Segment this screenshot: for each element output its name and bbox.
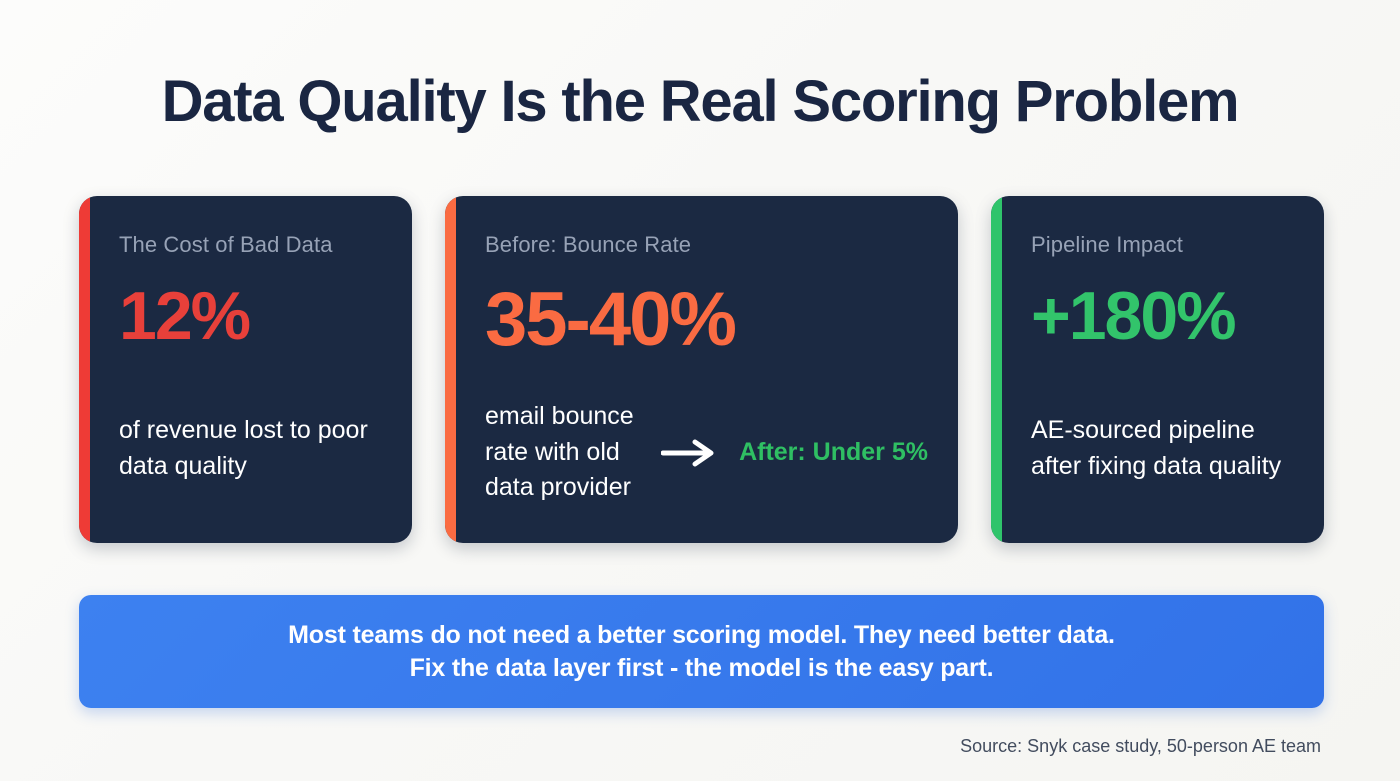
stat-cards-row: The Cost of Bad Data 12% of revenue lost… — [79, 196, 1324, 543]
card-description: AE-sourced pipeline after fixing data qu… — [1031, 413, 1294, 484]
stat-card-bounce-rate: Before: Bounce Rate 35-40% email bounce … — [445, 196, 958, 543]
card-body: of revenue lost to poor data quality — [119, 384, 382, 513]
card-label: Pipeline Impact — [1031, 232, 1294, 258]
card-stat-value: 35-40% — [485, 282, 928, 358]
page-title: Data Quality Is the Real Scoring Problem — [0, 68, 1400, 135]
stat-card-pipeline-impact: Pipeline Impact +180% AE-sourced pipelin… — [991, 196, 1324, 543]
source-note: Source: Snyk case study, 50-person AE te… — [960, 736, 1321, 757]
card-stat-value: 12% — [119, 282, 382, 350]
card-stat-value: +180% — [1031, 282, 1294, 350]
card-after-value: After: Under 5% — [739, 435, 928, 471]
card-description: email bounce rate with old data provider — [485, 399, 635, 506]
card-accent-bar — [79, 196, 90, 543]
key-takeaway-banner: Most teams do not need a better scoring … — [79, 595, 1324, 708]
card-accent-bar — [991, 196, 1002, 543]
card-description: of revenue lost to poor data quality — [119, 413, 382, 484]
card-body: email bounce rate with old data provider… — [485, 392, 928, 513]
card-accent-bar — [445, 196, 456, 543]
banner-line-1: Most teams do not need a better scoring … — [288, 621, 1115, 650]
stat-card-cost-of-bad-data: The Cost of Bad Data 12% of revenue lost… — [79, 196, 412, 543]
banner-line-2: Fix the data layer first - the model is … — [410, 654, 994, 683]
arrow-right-icon — [661, 439, 717, 467]
card-body: AE-sourced pipeline after fixing data qu… — [1031, 384, 1294, 513]
card-label: Before: Bounce Rate — [485, 232, 928, 258]
card-label: The Cost of Bad Data — [119, 232, 382, 258]
